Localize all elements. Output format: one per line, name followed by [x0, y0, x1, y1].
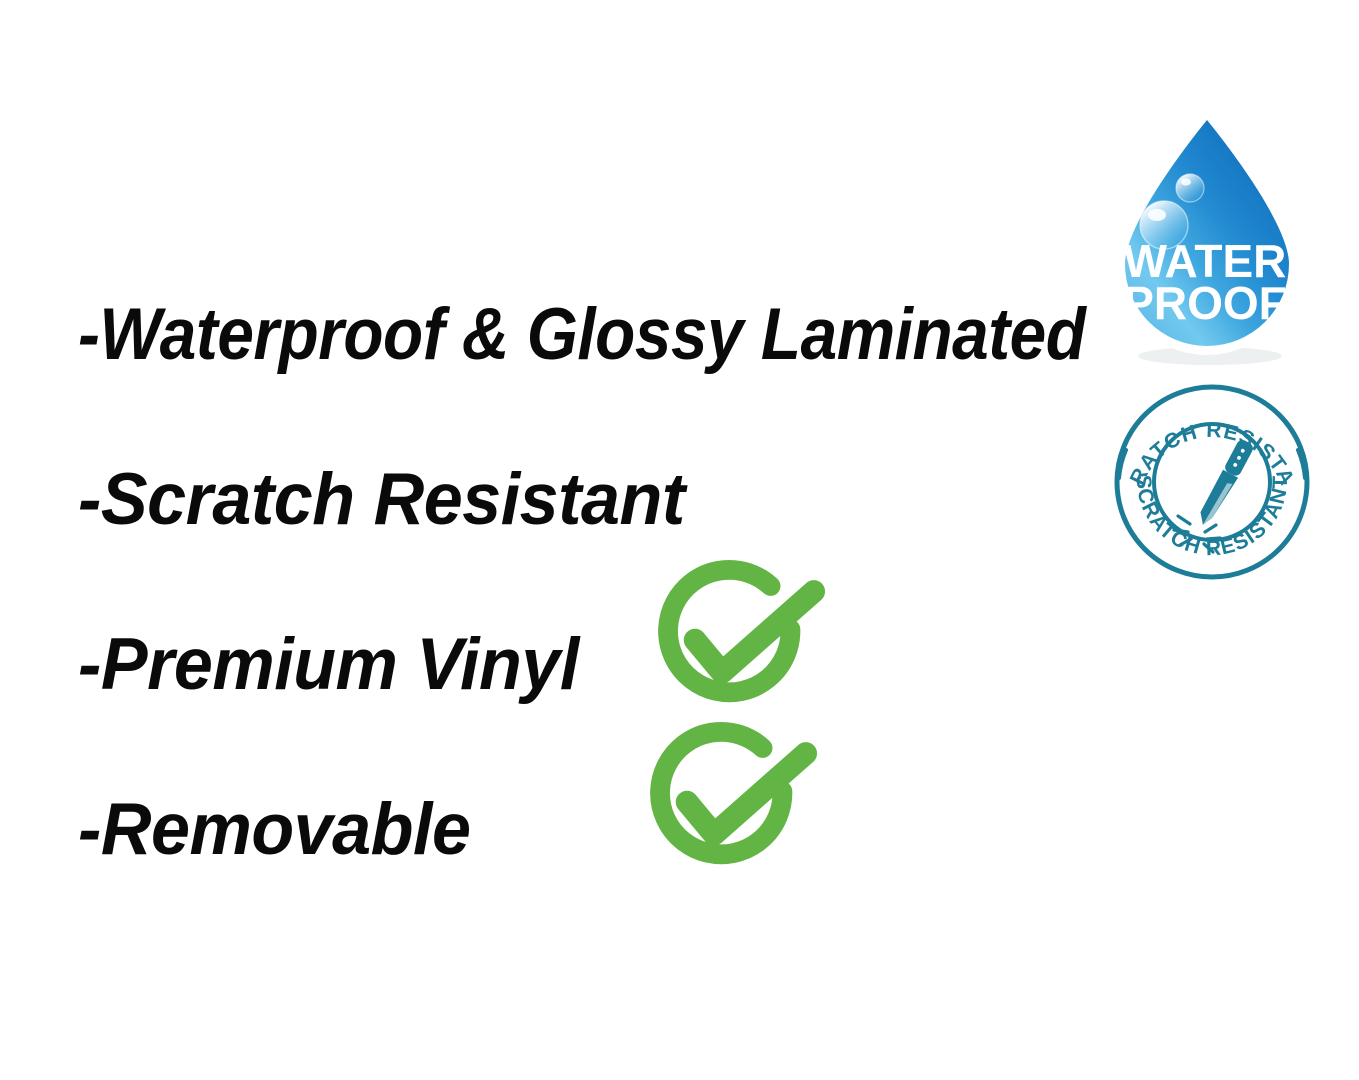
water-drop-icon: WATER PROOF: [1098, 104, 1316, 366]
feature-item-removable: -Removable: [78, 747, 1057, 912]
check-circle-icon: [641, 550, 821, 730]
feature-item-premium-vinyl: -Premium Vinyl: [78, 582, 1057, 747]
waterproof-line2: PROOF: [1123, 277, 1287, 329]
infographic-canvas: -Waterproof & Glossy Laminated -Scratch …: [0, 0, 1359, 1080]
feature-item-scratch-resistant: -Scratch Resistant: [78, 417, 1057, 582]
feature-item-waterproof-glossy-laminated: -Waterproof & Glossy Laminated: [78, 252, 996, 417]
feature-list: -Waterproof & Glossy Laminated -Scratch …: [78, 252, 1098, 912]
check-circle-icon: [633, 712, 813, 892]
knife-seal-icon: SCRATCH RESISTANT SCRATCH RESISTANT: [1112, 382, 1312, 582]
